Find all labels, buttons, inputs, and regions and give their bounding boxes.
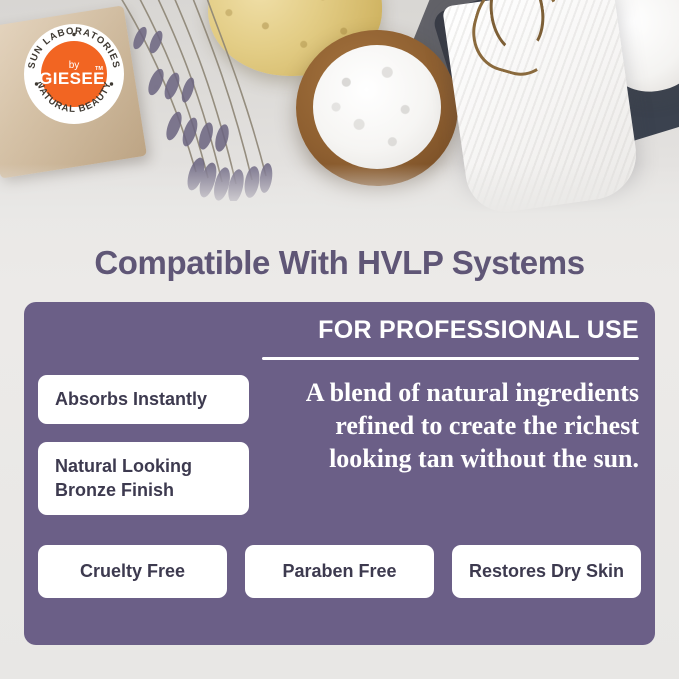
badge-trademark-symbol: TM [95, 66, 103, 72]
feature-panel: FOR PROFESSIONAL USE A blend of natural … [24, 302, 655, 645]
brand-badge-logo: SUN LABORATORIES NATURAL BEAUTY by GIESE… [22, 22, 126, 126]
feature-card-label: Absorbs Instantly [55, 389, 207, 409]
bath-salt [313, 45, 441, 169]
feature-pill-label: Cruelty Free [80, 561, 185, 582]
feature-pill-label: Restores Dry Skin [469, 561, 624, 582]
feature-pill-label: Paraben Free [282, 561, 396, 582]
bath-salt-bowl [296, 30, 458, 186]
feature-pill[interactable]: Cruelty Free [38, 545, 227, 598]
feature-card[interactable]: Natural Looking Bronze Finish [38, 442, 249, 515]
feature-pill-row: Cruelty Free Paraben Free Restores Dry S… [38, 545, 641, 598]
product-feature-image: SUN LABORATORIES NATURAL BEAUTY by GIESE… [0, 0, 679, 679]
feature-card-label: Natural Looking Bronze Finish [55, 455, 232, 502]
professional-use-heading: FOR PROFESSIONAL USE [262, 316, 639, 345]
feature-card[interactable]: Absorbs Instantly [38, 375, 249, 424]
photo-bottom-fade [0, 164, 679, 218]
feature-card-list: Absorbs Instantly Natural Looking Bronze… [38, 375, 249, 515]
panel-right-column: FOR PROFESSIONAL USE A blend of natural … [262, 316, 639, 475]
feature-pill[interactable]: Paraben Free [245, 545, 434, 598]
feature-pill[interactable]: Restores Dry Skin [452, 545, 641, 598]
page-title: Compatible With HVLP Systems [0, 244, 679, 282]
product-description: A blend of natural ingredients refined t… [262, 377, 639, 475]
heading-divider [262, 357, 639, 360]
